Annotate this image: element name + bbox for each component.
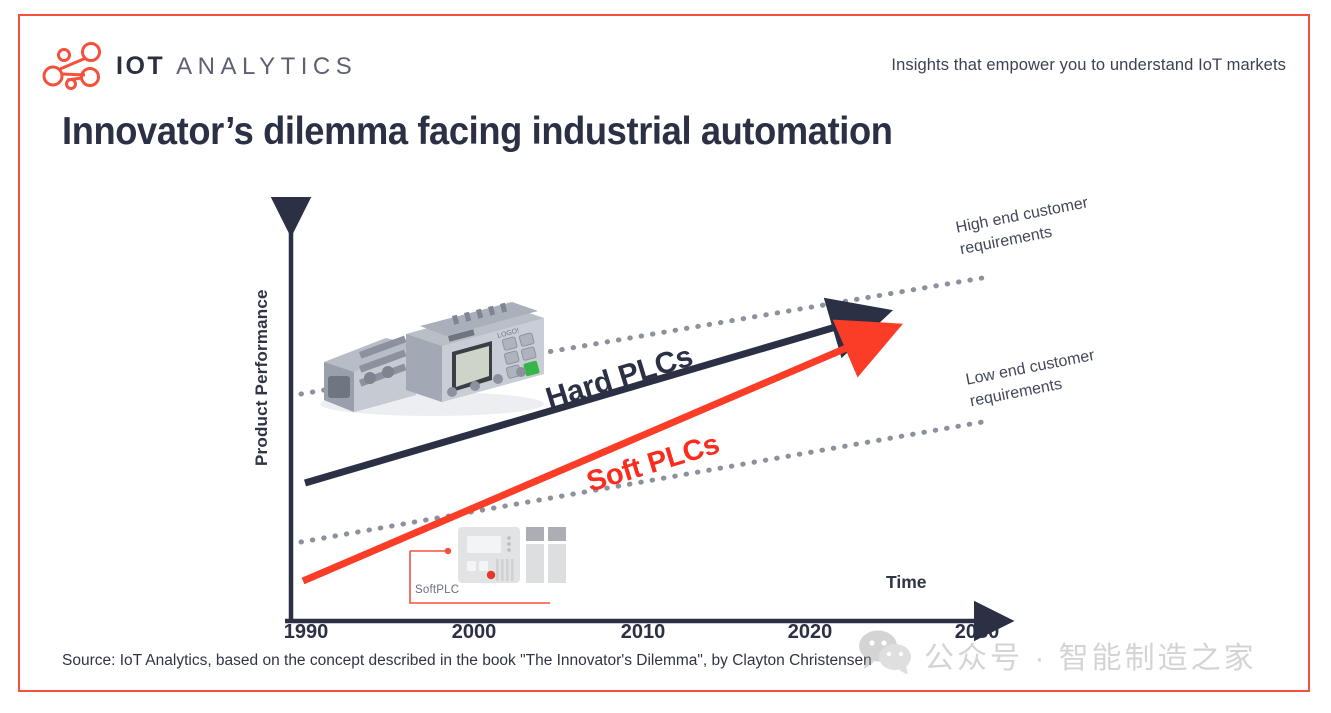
source-note: Source: IoT Analytics, based on the conc… xyxy=(62,652,872,670)
brand-logo[interactable]: IOT ANALYTICS xyxy=(40,42,357,90)
softplc-controller-diagram xyxy=(408,521,583,613)
x-tick-2010: 2010 xyxy=(621,621,666,644)
siemens-logo-plc-hardware-photo: LOGO! xyxy=(312,300,552,418)
brand-name-secondary: ANALYTICS xyxy=(176,53,357,81)
x-tick-2000: 2000 xyxy=(452,621,497,644)
x-tick-1990: 1990 xyxy=(284,621,329,644)
page-title: Innovator’s dilemma facing industrial au… xyxy=(62,110,1132,154)
brand-name-primary: IOT xyxy=(116,52,165,81)
y-axis-label: Product Performance xyxy=(252,289,272,466)
header: IOT ANALYTICS Insights that empower you … xyxy=(20,16,1308,104)
iot-analytics-network-icon xyxy=(40,42,102,90)
x-tick-2020: 2020 xyxy=(788,621,833,644)
softplc-caption: SoftPLC xyxy=(415,584,459,596)
chart-area: LOGO! xyxy=(20,166,1312,654)
brand-wordmark: IOT ANALYTICS xyxy=(116,52,357,81)
brand-tagline: Insights that empower you to understand … xyxy=(891,56,1286,75)
slide-frame: IOT ANALYTICS Insights that empower you … xyxy=(18,14,1310,692)
x-axis-label: Time xyxy=(886,572,927,593)
x-tick-2030: 2030 xyxy=(955,621,1000,644)
chart-canvas xyxy=(20,166,1312,654)
